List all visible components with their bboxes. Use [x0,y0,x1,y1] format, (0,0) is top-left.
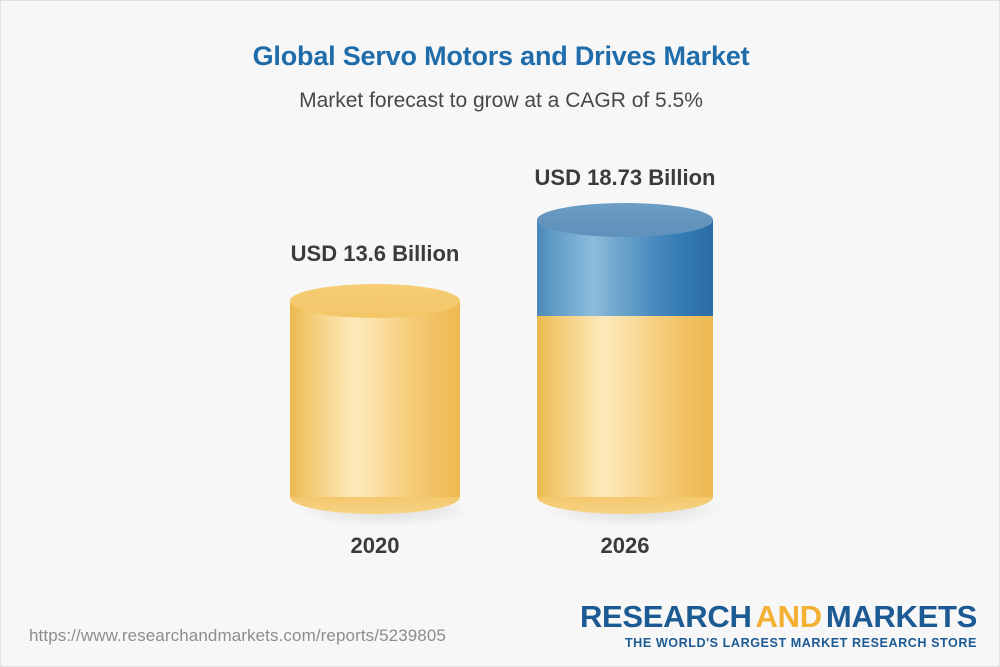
bar-segment-base-2026 [537,299,713,497]
bar-value-label-2026: USD 18.73 Billion [455,165,795,191]
bar-value-label-2020: USD 13.6 Billion [205,241,545,267]
bar-category-label-2026: 2026 [455,533,795,559]
brand-word-research: RESEARCH [580,599,752,634]
brand-logo[interactable]: RESEARCHANDMARKETS THE WORLD'S LARGEST M… [580,601,977,650]
bar-segment-body-base-2026 [537,299,713,497]
bar-segment-body-2020 [290,301,460,497]
bar-segment-top-ellipse-2026 [537,203,713,237]
brand-word-markets: MARKETS [826,599,977,634]
infographic-canvas: Global Servo Motors and Drives Market Ma… [0,0,1000,667]
chart-plot-area: USD 13.6 Billion 2020 USD 18.73 Billion [1,1,1000,667]
bar-cylinder-2026[interactable] [537,203,713,514]
bar-segment-growth-2026 [537,203,713,316]
brand-wordmark: RESEARCHANDMARKETS [580,601,977,632]
brand-tagline: THE WORLD'S LARGEST MARKET RESEARCH STOR… [580,637,977,650]
brand-word-and: AND [752,599,826,634]
bar-cylinder-2020[interactable] [290,284,460,514]
bar-segment-base-2020 [290,284,460,497]
bar-segment-top-ellipse-2020 [290,284,460,318]
source-url[interactable]: https://www.researchandmarkets.com/repor… [29,626,446,646]
